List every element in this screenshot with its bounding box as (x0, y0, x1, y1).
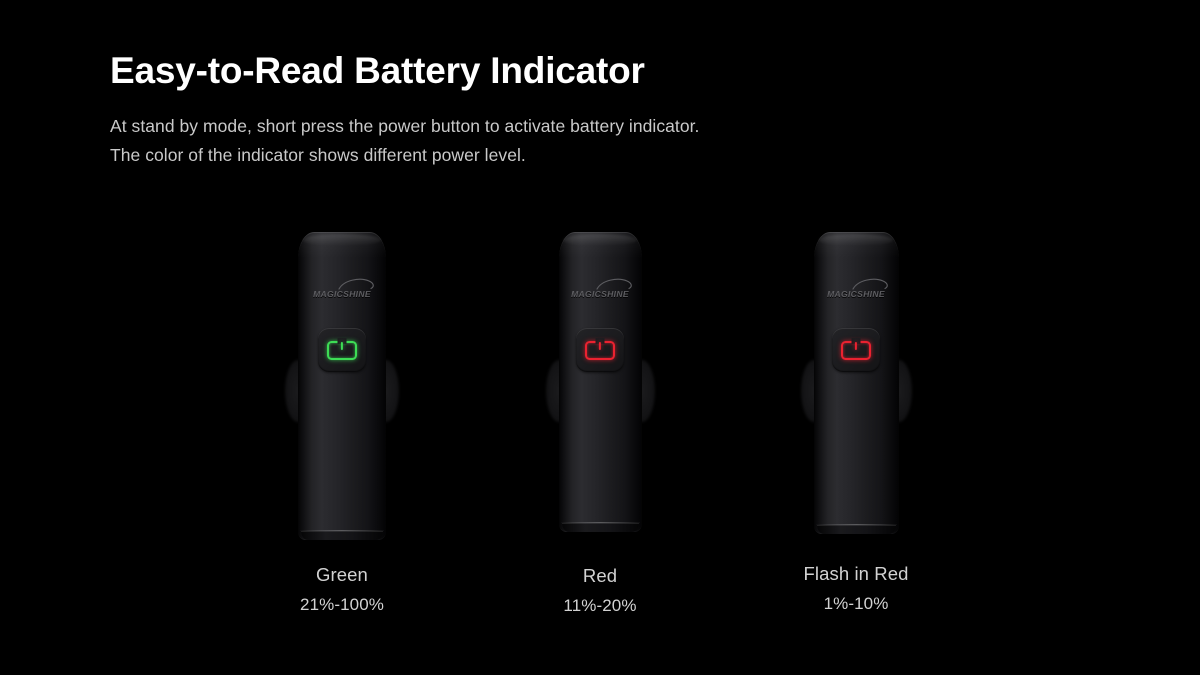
top-rim-highlight (303, 234, 380, 246)
caption-range: 21%-100% (192, 592, 492, 618)
device-caption: Flash in Red 1%-10% (706, 561, 1006, 616)
top-rim-highlight (819, 234, 894, 246)
battery-indicator-infographic: { "page": { "background_color": "#000000… (0, 0, 1200, 675)
subtitle-line-2: The color of the indicator shows differe… (110, 141, 1010, 170)
device-caption: Red 11%-20% (450, 563, 750, 618)
indicator-bar (341, 342, 343, 350)
device-caption: Green 21%-100% (192, 562, 492, 617)
caption-title: Green (192, 562, 492, 589)
power-button[interactable] (832, 328, 880, 372)
power-button[interactable] (318, 328, 366, 372)
device-cell-green: MAGICSHINE Green 21%-100% (192, 232, 492, 632)
page-title: Easy-to-Read Battery Indicator (110, 48, 1010, 94)
caption-range: 1%-10% (706, 591, 1006, 617)
header-block: Easy-to-Read Battery Indicator At stand … (110, 48, 1010, 169)
bottom-cap (301, 531, 383, 540)
bike-light-device: MAGICSHINE (814, 232, 899, 534)
brand-wordmark: MAGICSHINE (819, 289, 893, 299)
indicator-bar (599, 342, 601, 350)
caption-title: Flash in Red (706, 561, 1006, 588)
top-rim-highlight (563, 234, 636, 246)
bottom-cap (817, 525, 896, 534)
device-cell-red: MAGICSHINE Red 11%-20% (450, 232, 750, 632)
power-indicator-icon (585, 341, 615, 360)
brand-wordmark: MAGICSHINE (563, 289, 637, 299)
brand-logo: MAGICSHINE (819, 278, 893, 306)
bottom-cap (562, 523, 639, 532)
bike-light-device: MAGICSHINE (559, 232, 642, 532)
brand-logo: MAGICSHINE (305, 278, 379, 306)
device-row: MAGICSHINE Green 21%-100% (0, 232, 1200, 632)
brand-wordmark: MAGICSHINE (305, 289, 379, 299)
caption-title: Red (450, 563, 750, 590)
bike-light-device: MAGICSHINE (298, 232, 386, 540)
caption-range: 11%-20% (450, 593, 750, 619)
subtitle-line-1: At stand by mode, short press the power … (110, 112, 1010, 141)
device-cell-flash-red: MAGICSHINE Flash in Red 1%-10% (706, 232, 1006, 632)
power-indicator-icon (327, 341, 357, 360)
indicator-bar (855, 342, 857, 350)
brand-logo: MAGICSHINE (563, 278, 637, 306)
power-button[interactable] (576, 328, 624, 372)
device-body (559, 232, 642, 532)
power-indicator-icon (841, 341, 871, 360)
